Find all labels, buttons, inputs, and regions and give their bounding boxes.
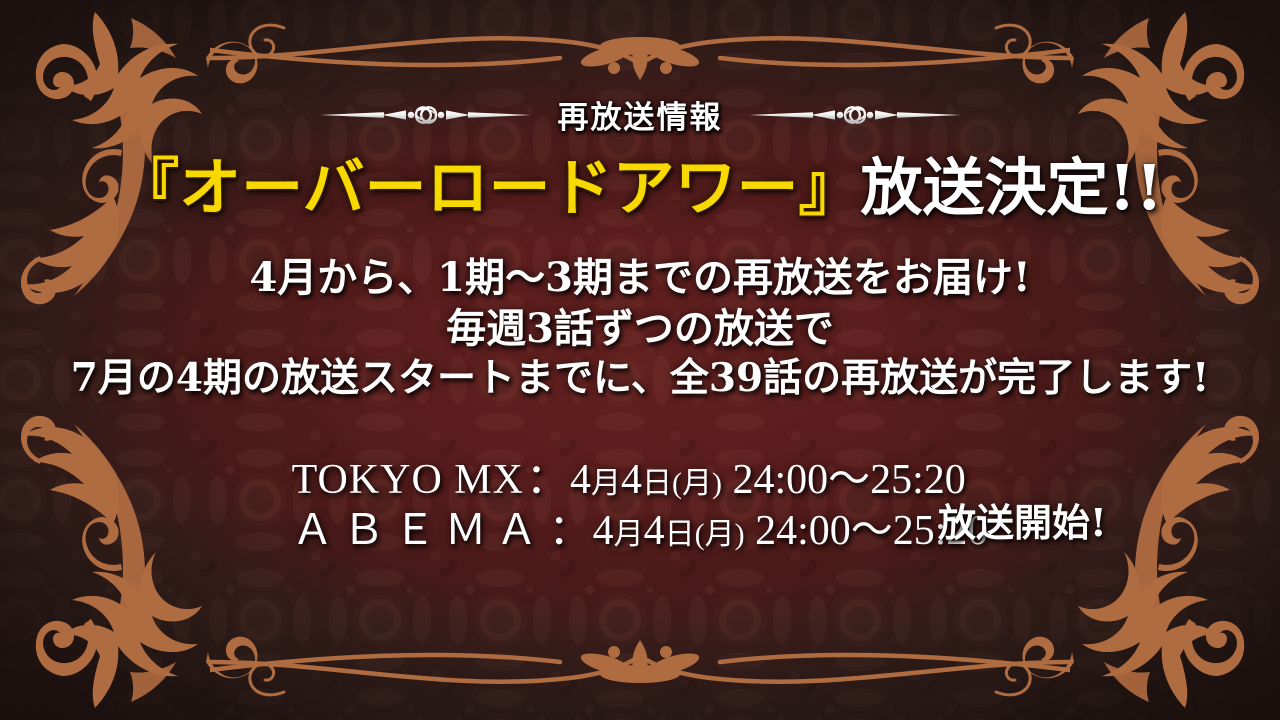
title-series-name: 『オーバーロードアワー』 (117, 151, 860, 224)
on-air-start-label: 放送開始! (938, 492, 1107, 547)
schedule-month-number: 4 (570, 457, 591, 503)
broadcast-announcement-card: 再放送情報 (0, 0, 1280, 720)
schedule-list: TOKYO MX：4月4日(月) 24:00～25:20 ＡＢＥＭＡ：4月4日(… (292, 455, 989, 557)
schedule-separator: ： (547, 508, 593, 554)
title-announcement: 放送決定!! (860, 151, 1162, 224)
flourish-divider-icon-left (320, 98, 532, 132)
schedule-weekday: (月) (672, 467, 722, 500)
schedule-row-tokyo-mx: TOKYO MX：4月4日(月) 24:00～25:20 (292, 455, 989, 506)
schedule-network-name: ＡＢＥＭＡ (292, 508, 547, 554)
description-line: 4月から、1期～3期までの再放送をお届け! (0, 252, 1280, 303)
card-content: 再放送情報 (0, 0, 1280, 720)
schedule-month-number: 4 (593, 508, 614, 554)
description-line: 毎週3話ずつの放送で (0, 303, 1280, 354)
eyebrow-label: 再放送情報 (558, 92, 723, 137)
flourish-divider-icon-right (749, 98, 961, 132)
schedule-month-unit: 月 (614, 518, 644, 551)
description-line: 7月の4期の放送スタートまでに、全39話の再放送が完了します! (0, 354, 1280, 404)
schedule-day-unit: 日 (665, 518, 695, 551)
schedule-month-unit: 月 (591, 467, 621, 500)
schedule-row-abema: ＡＢＥＭＡ：4月4日(月) 24:00～25:20 (292, 506, 989, 557)
schedule-day-number: 4 (621, 457, 642, 503)
schedule-weekday: (月) (695, 518, 745, 551)
eyebrow-row: 再放送情報 (0, 92, 1280, 137)
schedule-day-unit: 日 (642, 467, 672, 500)
schedule-day-number: 4 (644, 508, 665, 554)
description-block: 4月から、1期～3期までの再放送をお届け! 毎週3話ずつの放送で 7月の4期の放… (0, 252, 1280, 404)
schedule-separator: ： (524, 457, 570, 503)
schedule-network-name: TOKYO MX (292, 457, 524, 503)
schedule-time-range: 24:00～25:20 (732, 457, 965, 503)
main-title: 『オーバーロードアワー』放送決定!! (0, 155, 1280, 220)
